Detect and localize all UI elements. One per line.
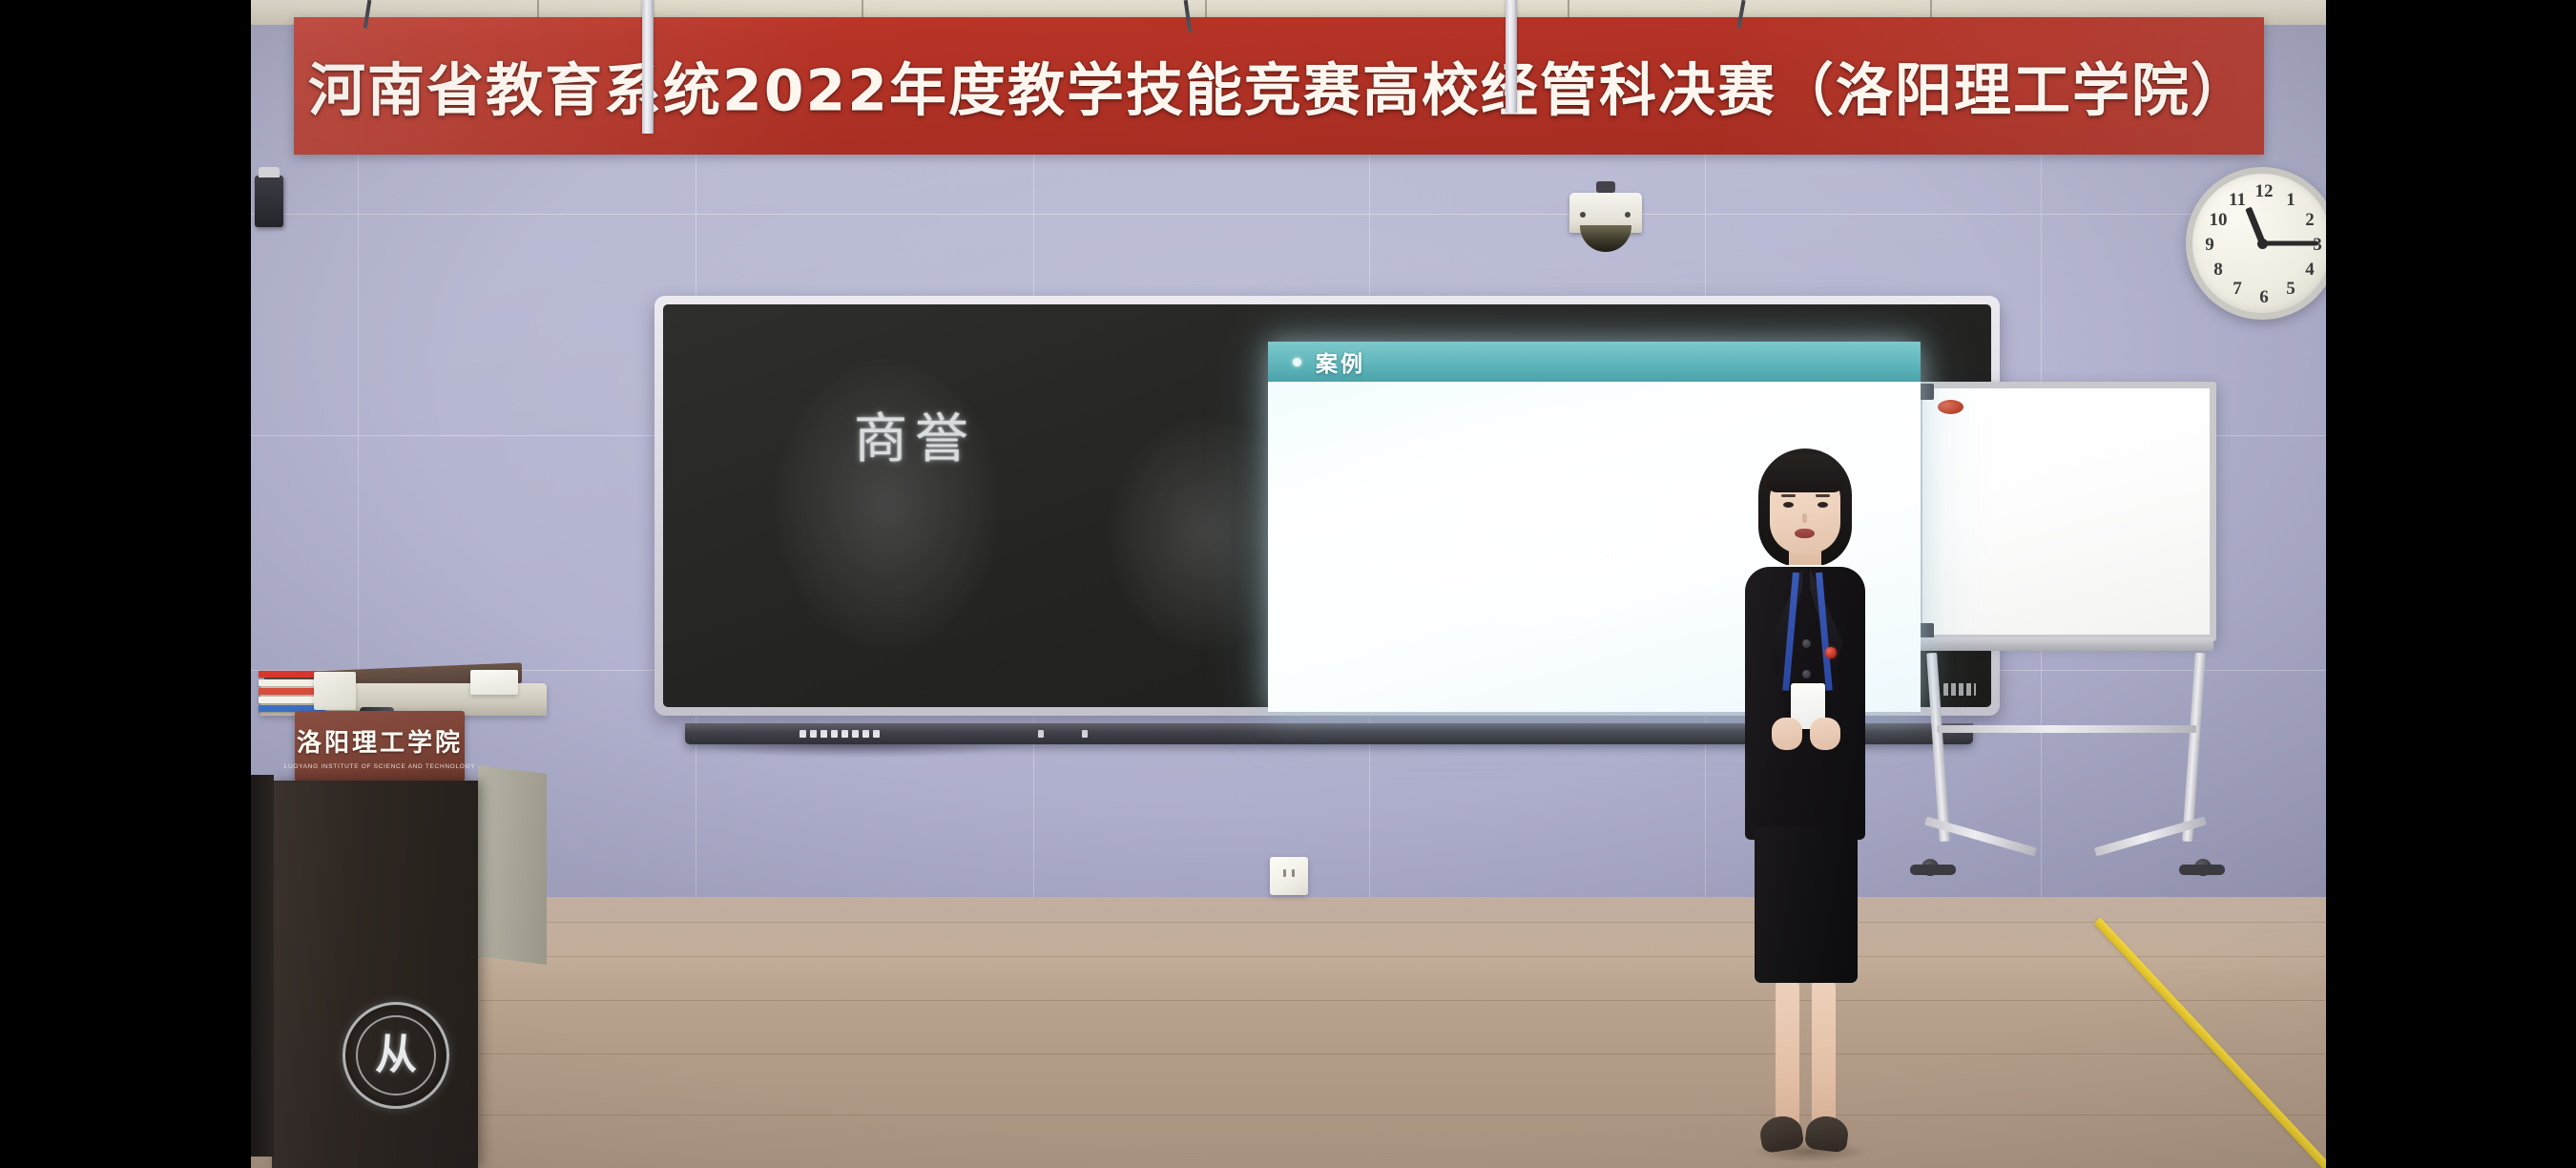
clock-number: 5 (2280, 279, 2301, 300)
wall-clock: 12 1 2 3 4 5 6 7 8 9 10 11 (2186, 167, 2326, 320)
mobile-whiteboard[interactable] (1916, 382, 2216, 954)
clock-number: 11 (2227, 190, 2248, 211)
lapel-pin (1825, 647, 1837, 658)
wall-speaker (255, 176, 283, 227)
clock-number: 8 (2208, 260, 2229, 281)
whiteboard-sticker (1938, 400, 1963, 414)
lectern-plaque-cn: 洛阳理工学院 (297, 723, 463, 759)
chalk-text-left: 商誉 (854, 396, 976, 473)
whiteboard-surface[interactable] (1916, 382, 2216, 641)
clock-number: 10 (2208, 210, 2229, 231)
teacher-hand (1772, 718, 1802, 750)
event-banner: 河南省教育系统2022年度教学技能竞赛高校经管科决赛（洛阳理工学院） (294, 17, 2264, 155)
banner-title: 河南省教育系统2022年度教学技能竞赛高校经管科决赛（洛阳理工学院） (294, 45, 2264, 128)
lectern-device (314, 672, 356, 710)
slide-header: 案例 (1268, 342, 1921, 382)
bullet-icon (1293, 358, 1301, 366)
hanging-pole (642, 0, 654, 134)
clock-number: 2 (2299, 210, 2320, 231)
whiteboard-tray (1919, 637, 2213, 651)
letterbox-right (2326, 0, 2576, 1168)
clock-center-pin (2257, 239, 2268, 249)
clock-number: 4 (2299, 260, 2320, 281)
wall-outlet[interactable] (1270, 857, 1308, 895)
clock-number: 9 (2199, 235, 2220, 256)
lectern-paper (470, 670, 518, 695)
clock-number: 7 (2227, 279, 2248, 300)
classroom-scene: 河南省教育系统2022年度教学技能竞赛高校经管科决赛（洛阳理工学院） 12 1 … (251, 0, 2326, 1168)
university-emblem: 从 (343, 1002, 449, 1109)
hanging-pole (1506, 0, 1517, 113)
clock-number: 1 (2280, 190, 2301, 211)
dome-camera-icon (1569, 187, 1642, 250)
lectern[interactable]: 洛阳理工学院 LUOYANG INSTITUTE OF SCIENCE AND … (251, 658, 556, 1168)
clock-number: 6 (2254, 287, 2275, 308)
teacher-hand (1810, 718, 1840, 750)
clock-number: 12 (2254, 181, 2275, 202)
board-buttons[interactable] (800, 730, 880, 738)
board-shadow (685, 742, 1028, 758)
board-indicator (1038, 730, 1044, 738)
presenting-teacher (1711, 448, 1901, 1168)
slide-title: 案例 (1316, 345, 1365, 378)
board-indicator (1082, 730, 1088, 738)
emblem-mark: 从 (375, 1034, 417, 1076)
lectern-body: 从 (272, 781, 478, 1168)
clock-minute-hand (2262, 241, 2317, 246)
letterbox-left (0, 0, 251, 1168)
screenshot-stage: 河南省教育系统2022年度教学技能竞赛高校经管科决赛（洛阳理工学院） 12 1 … (0, 0, 2576, 1168)
lectern-plaque: 洛阳理工学院 LUOYANG INSTITUTE OF SCIENCE AND … (295, 711, 465, 782)
lectern-plaque-en: LUOYANG INSTITUTE OF SCIENCE AND TECHNOL… (284, 763, 476, 770)
